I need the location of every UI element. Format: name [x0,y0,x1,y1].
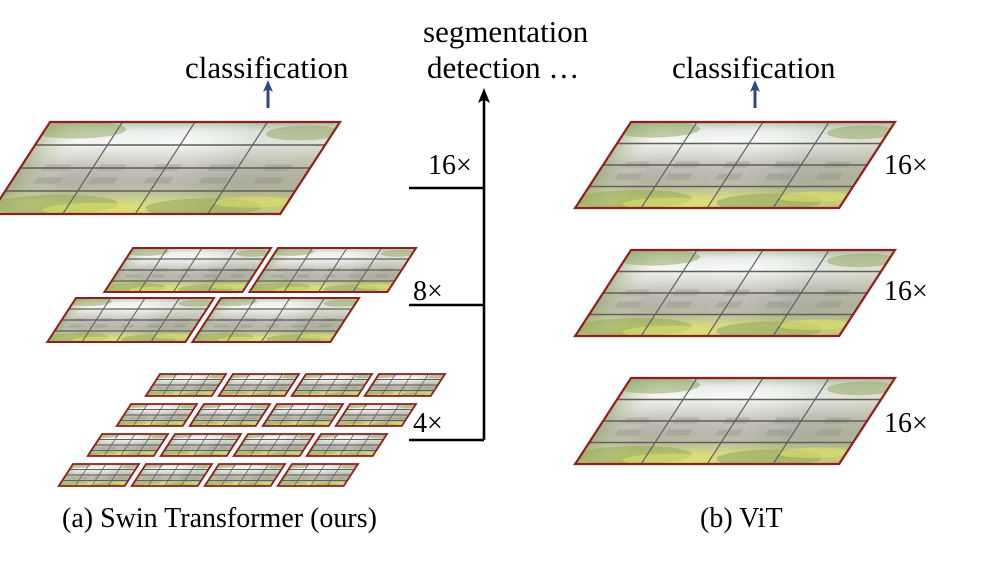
swin-vs-vit-figure: classification classification segmentati… [0,0,985,563]
panel-b-layer-top [563,122,903,211]
panel-b-layer-bottom [563,378,903,467]
panel-a-layer-4x [56,374,447,487]
panel-b-layer-middle [563,250,903,339]
panel-a-layer-8x [41,248,420,343]
panel-a-layer-16x [0,122,349,217]
panel-a-classification-arrow-icon [263,80,273,108]
panel-a-swin-stack [0,80,447,487]
figure-canvas [0,0,985,563]
panel-b-vit-stack [563,80,903,467]
panel-b-classification-arrow-icon [750,80,760,108]
